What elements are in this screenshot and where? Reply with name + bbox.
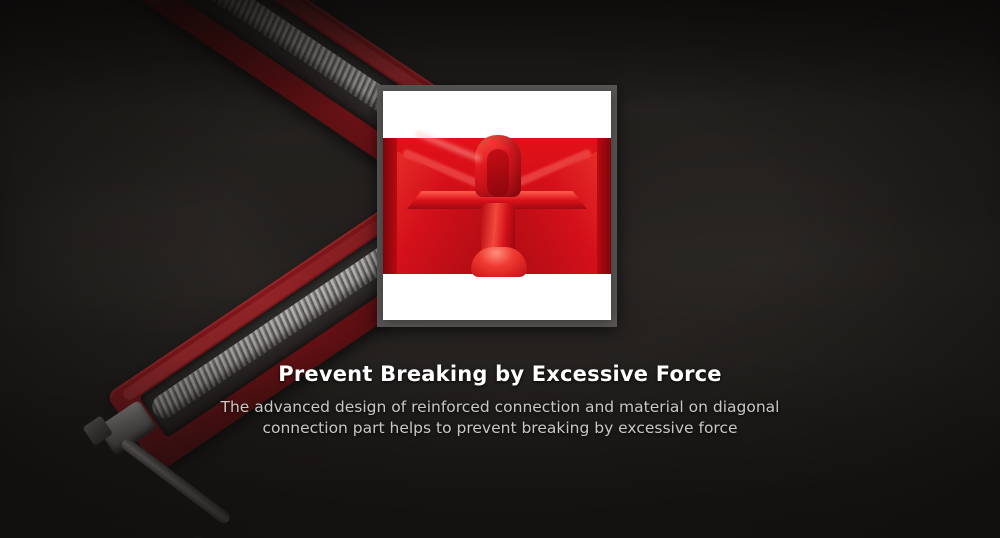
feature-subtitle-line-1: The advanced design of reinforced connec… — [0, 397, 1000, 418]
feature-subtitle: The advanced design of reinforced connec… — [0, 397, 1000, 439]
feature-banner: Prevent Breaking by Excessive Force The … — [0, 0, 1000, 538]
joint-right-edge — [597, 138, 611, 274]
magnified-joint-artwork — [383, 91, 611, 320]
joint-foot — [471, 247, 527, 277]
feature-title: Prevent Breaking by Excessive Force — [0, 360, 1000, 388]
caption-block: Prevent Breaking by Excessive Force The … — [0, 360, 1000, 439]
joint-boss-slot — [487, 149, 509, 197]
joint-left-edge — [383, 138, 397, 274]
feature-subtitle-line-2: connection part helps to prevent breakin… — [0, 418, 1000, 439]
magnified-joint-detail — [383, 91, 611, 320]
